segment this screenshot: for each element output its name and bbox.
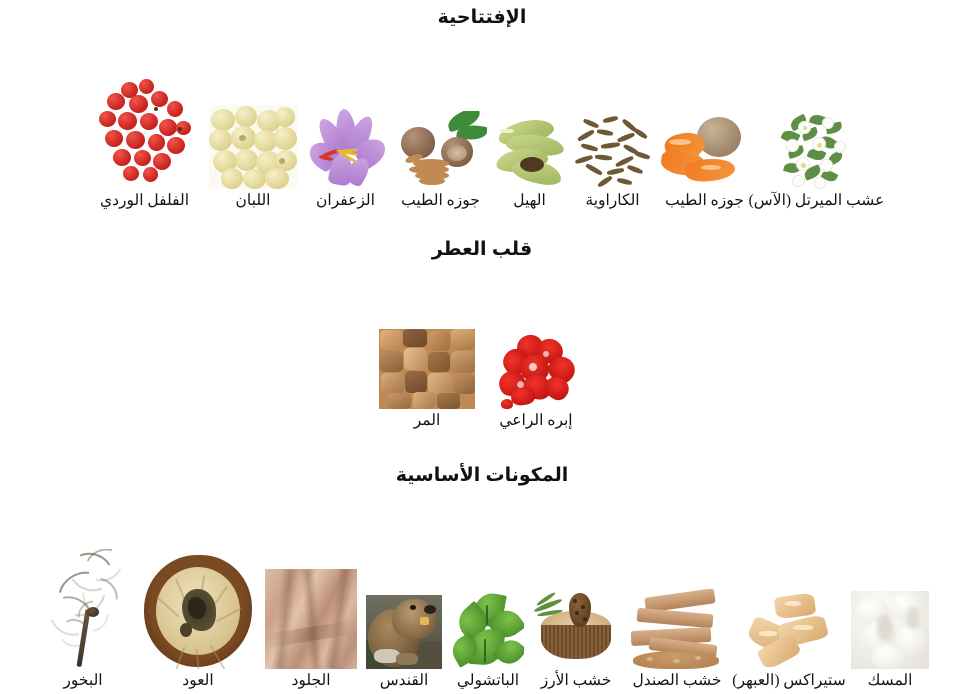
ingredient-castoreum: القندس: [361, 595, 447, 690]
section-heading-base-notes: المكونات الأساسية: [0, 466, 964, 487]
ingredient-musk: المسك: [847, 591, 933, 690]
ingredient-geranium: إبره الراعي: [481, 329, 591, 430]
ingredient-label: الباتشولي: [457, 672, 519, 690]
ingredient-oud: العود: [135, 553, 261, 690]
saffron-image: [306, 109, 386, 189]
ingredient-myrrh: المر: [373, 329, 481, 430]
heart-notes-row: المر: [0, 300, 964, 430]
ingredient-leather: الجلود: [261, 569, 361, 690]
ingredient-label: خشب الصندل: [632, 672, 721, 690]
ingredient-label: المر: [414, 412, 441, 430]
ingredient-nutmeg: جوزه الطيب: [391, 111, 491, 210]
section-heading-heart-notes: قلب العطر: [0, 240, 964, 261]
ingredient-label: ستيراكس (العبهر): [732, 672, 845, 690]
ingredient-label: خشب الأرز: [541, 672, 612, 690]
ingredient-label: الجلود: [291, 672, 330, 690]
ingredient-label: الفلفل الوردي: [100, 192, 189, 210]
cedarwood-image: [533, 587, 619, 669]
base-notes-row: البخور: [0, 520, 964, 690]
caraway-image: [573, 115, 653, 189]
myrrh-image: [379, 329, 475, 409]
ingredient-label: جوزه الطيب: [665, 192, 744, 210]
ingredient-styrax: ستيراكس (العبهر): [731, 593, 847, 690]
sandalwood-image: [629, 589, 725, 669]
leather-image: [265, 569, 357, 669]
ingredient-caraway: الكاراوية: [569, 115, 657, 210]
ingredient-label: العود: [182, 672, 213, 690]
ingredient-pink-pepper: الفلفل الوردي: [84, 77, 206, 210]
frankincense-image: [209, 105, 297, 189]
patchouli-image: [452, 593, 524, 669]
castoreum-beaver-image: [366, 595, 442, 669]
incense-smoke-image: [37, 549, 129, 669]
nutmeg-image: [395, 111, 487, 189]
ingredient-label: عشب الميرتل (الآس): [749, 192, 885, 210]
geranium-image: [493, 329, 579, 409]
ingredient-label: البخور: [63, 672, 102, 690]
perfume-notes-pyramid-page: الإفتتاحية: [0, 0, 964, 694]
ingredient-label: اللبان: [236, 192, 271, 210]
ingredient-label: المسك: [868, 672, 913, 690]
pink-pepper-image: [91, 77, 199, 189]
ingredient-sandalwood: خشب الصندل: [623, 589, 731, 690]
ingredient-mace: جوزه الطيب: [657, 111, 753, 210]
musk-image: [851, 591, 929, 669]
ingredient-label: إبره الراعي: [499, 412, 572, 430]
ingredient-cedarwood: خشب الأرز: [529, 587, 623, 690]
ingredient-frankincense: اللبان: [206, 105, 301, 210]
ingredient-label: الزعفران: [316, 192, 375, 210]
ingredient-cardamom: الهيل: [491, 117, 569, 210]
ingredient-incense: البخور: [31, 549, 135, 690]
ingredient-label: الكاراوية: [585, 192, 639, 210]
top-notes-row: الفلفل الوردي: [0, 60, 964, 210]
myrtle-image: [780, 113, 854, 189]
styrax-image: [745, 593, 833, 669]
oud-wood-image: [142, 553, 254, 669]
ingredient-myrtle: عشب الميرتل (الآس): [753, 113, 881, 210]
ingredient-label: جوزه الطيب: [401, 192, 480, 210]
ingredient-saffron: الزعفران: [301, 109, 391, 210]
cardamom-image: [494, 117, 566, 189]
ingredient-label: الهيل: [513, 192, 546, 210]
ingredient-label: القندس: [380, 672, 429, 690]
section-heading-top-notes: الإفتتاحية: [0, 8, 964, 29]
mace-image: [661, 111, 749, 189]
ingredient-patchouli: الباتشولي: [447, 593, 529, 690]
